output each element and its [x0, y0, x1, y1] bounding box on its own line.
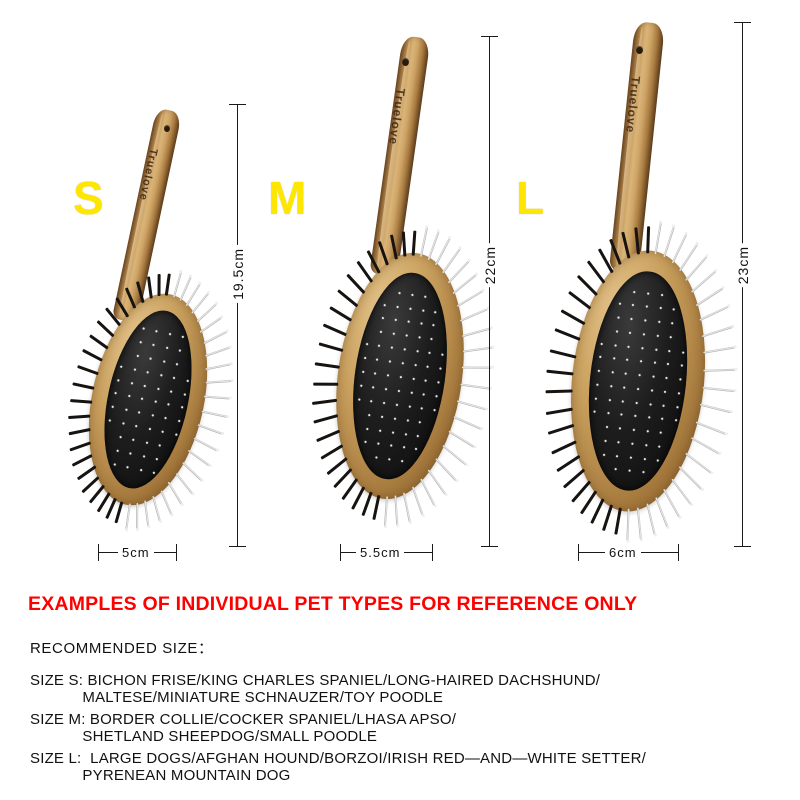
brush-medium: Truelove [318, 30, 498, 550]
pin-dot [628, 345, 630, 347]
pin-dot [113, 463, 115, 465]
boar-bristle [106, 498, 117, 519]
boar-bristle [314, 415, 339, 424]
pin-dot [167, 404, 169, 406]
steel-pin [125, 503, 131, 529]
steel-pin [655, 222, 662, 254]
steel-pin [679, 466, 703, 490]
dimension-cap-bottom-m [481, 546, 498, 547]
pin-dot [659, 307, 661, 309]
pin-dot [384, 304, 386, 306]
pin-dot [419, 421, 421, 423]
pin-dot [629, 332, 631, 334]
steel-pin [420, 479, 435, 507]
steel-pin [160, 490, 172, 515]
boar-bristle [97, 320, 115, 337]
boar-bristle [323, 324, 347, 336]
pin-dot [648, 417, 650, 419]
pin-dot [638, 374, 640, 376]
pin-dot [609, 399, 611, 401]
steel-pin [457, 400, 486, 410]
pin-dot [604, 440, 606, 442]
boar-bristle [313, 399, 338, 405]
pin-dot [642, 471, 644, 473]
pin-dot [603, 453, 605, 455]
pin-dot [597, 384, 599, 386]
boar-bristle [72, 455, 93, 467]
dimension-label-width-s: 5cm [118, 545, 154, 560]
pin-dot [424, 295, 426, 297]
pin-dot [656, 335, 658, 337]
boar-bristle [337, 289, 358, 307]
boar-bristle [551, 440, 576, 454]
pin-dot [375, 457, 377, 459]
steel-pin [696, 421, 726, 435]
steel-pin [663, 489, 680, 518]
pin-dot [140, 469, 142, 471]
pin-dot [680, 365, 682, 367]
steel-pin [460, 383, 490, 389]
pin-dot [135, 425, 137, 427]
recommended-size-m-line1: SIZE M: BORDER COLLIE/COCKER SPANIEL/LHA… [30, 711, 456, 728]
pin-dot [404, 348, 406, 350]
pin-dot [388, 458, 390, 460]
pin-dot [653, 362, 655, 364]
steel-pin [188, 450, 210, 467]
pin-dot [160, 374, 162, 376]
pin-dot [643, 333, 645, 335]
steel-pin [453, 416, 481, 430]
brush-large: Truelove [550, 18, 740, 558]
boar-bristle [68, 429, 90, 436]
steel-pin [384, 497, 388, 527]
boar-bristle [547, 370, 574, 375]
steel-pin [204, 396, 230, 400]
boar-bristle [362, 492, 373, 516]
steel-pin [203, 331, 227, 345]
steel-pin [685, 452, 712, 473]
dimension-cap-left-s [98, 544, 99, 561]
dimension-cap-top-m [481, 36, 498, 37]
pin-dot [407, 419, 409, 421]
boar-bristle [77, 366, 99, 376]
pin-dot [169, 333, 171, 335]
pin-dot [661, 293, 663, 295]
steel-pin [182, 462, 202, 481]
pin-dot [438, 381, 440, 383]
pin-dot [399, 292, 401, 294]
pin-dot [429, 352, 431, 354]
recommended-size-s-line1: SIZE S: BICHON FRISE/KING CHARLES SPANIE… [30, 672, 600, 689]
pin-dot [427, 366, 429, 368]
pin-dot [414, 364, 416, 366]
pin-dot [151, 414, 153, 416]
steel-pin [201, 410, 227, 417]
pin-dot [667, 363, 669, 365]
steel-pin [703, 347, 735, 354]
dimension-cap-right-m [432, 544, 433, 561]
steel-pin [671, 234, 687, 264]
pin-dot [647, 292, 649, 294]
steel-pin [144, 500, 149, 526]
pin-dot [360, 384, 362, 386]
steel-pin [403, 492, 411, 522]
boar-bristle [346, 274, 365, 294]
pin-dot [646, 430, 648, 432]
boar-bristle [646, 226, 649, 253]
pin-dot [401, 460, 403, 462]
recommended-size-l-line2: PYRENEAN MOUNTAIN DOG [30, 767, 291, 784]
size-letter-m: M [268, 175, 306, 221]
pin-dot [157, 387, 159, 389]
pin-dot [122, 422, 124, 424]
brush-medium-graphic: Truelove [318, 30, 498, 550]
pin-dot [598, 370, 600, 372]
boar-bristle [563, 469, 585, 489]
pin-dot [433, 325, 435, 327]
pin-dot [649, 403, 651, 405]
pin-dot [131, 382, 133, 384]
brush-small-graphic: Truelove [78, 100, 238, 550]
pin-dot [389, 360, 391, 362]
brush-medium-pad [341, 267, 458, 486]
pin-dot [395, 319, 397, 321]
dimension-label-width-m: 5.5cm [356, 545, 404, 560]
pin-dot [127, 466, 129, 468]
pin-dot [417, 435, 419, 437]
pin-dot [420, 323, 422, 325]
pin-dot [619, 427, 621, 429]
pin-dot [397, 305, 399, 307]
pin-dot [625, 373, 627, 375]
pin-dot [409, 307, 411, 309]
steel-pin [198, 424, 223, 435]
steel-pin [691, 437, 720, 454]
boar-bristle [577, 275, 598, 296]
pin-dot [664, 391, 666, 393]
pin-dot [594, 411, 596, 413]
pin-dot [644, 319, 646, 321]
steel-pin [175, 473, 193, 494]
dimension-label-width-l: 6cm [605, 545, 641, 560]
pin-dot [396, 403, 398, 405]
steel-pin [663, 227, 675, 258]
steel-pin [457, 290, 484, 307]
pin-dot [393, 333, 395, 335]
steel-pin [699, 306, 729, 321]
pin-dot [166, 347, 168, 349]
pin-dot [423, 393, 425, 395]
pin-dot [179, 349, 181, 351]
pin-dot [369, 414, 371, 416]
pin-dot [626, 359, 628, 361]
pin-dot [362, 371, 364, 373]
boar-bristle [556, 455, 580, 472]
boar-bristle [165, 274, 171, 296]
pin-dot [381, 415, 383, 417]
steel-pin [448, 431, 475, 448]
pin-dot [645, 444, 647, 446]
pin-dot [145, 442, 147, 444]
steel-pin [206, 363, 232, 370]
pin-dot [153, 344, 155, 346]
boar-bristle [342, 478, 359, 500]
steel-pin [704, 368, 736, 371]
pin-dot [410, 391, 412, 393]
pin-dot [156, 458, 158, 460]
pin-dot [139, 341, 141, 343]
dimension-cap-right-l [678, 544, 679, 561]
pin-dot [636, 401, 638, 403]
brush-medium-head [321, 245, 478, 508]
pin-dot [392, 431, 394, 433]
steel-pin [206, 380, 232, 384]
pin-dot [621, 414, 623, 416]
steel-pin [691, 271, 716, 293]
pin-dot [637, 388, 639, 390]
boar-bristle [89, 334, 108, 349]
pin-dot [416, 350, 418, 352]
pin-dot [606, 426, 608, 428]
boar-bristle [77, 466, 96, 481]
boar-bristle [318, 343, 343, 352]
boar-bristle [554, 329, 580, 341]
dimension-cap-top-s [229, 104, 246, 105]
pin-dot [682, 351, 684, 353]
steel-pin [671, 478, 692, 505]
pin-dot [383, 402, 385, 404]
pin-dot [655, 348, 657, 350]
pin-dot [607, 412, 609, 414]
product-size-chart-image: Truelove Truelove Truelove [0, 0, 800, 800]
boar-bristle [82, 349, 103, 361]
pin-dot [670, 336, 672, 338]
reference-headline: EXAMPLES OF INDIVIDUAL PET TYPES FOR REF… [28, 593, 778, 616]
pin-dot [154, 401, 156, 403]
steel-pin [412, 486, 424, 515]
dimension-cap-bottom-l [734, 546, 751, 547]
steel-pin [462, 367, 492, 369]
pin-dot [616, 455, 618, 457]
steel-pin [205, 346, 230, 356]
pin-dot [412, 378, 414, 380]
brush-small: Truelove [78, 100, 238, 550]
pin-dot [134, 368, 136, 370]
pin-dot [613, 358, 615, 360]
steel-pin [700, 404, 732, 414]
pin-dot [400, 376, 402, 378]
pin-dot [137, 355, 139, 357]
brush-large-pad [579, 267, 697, 496]
pin-dot [366, 343, 368, 345]
boar-bristle [602, 504, 613, 530]
pin-dot [658, 445, 660, 447]
boar-bristle [147, 277, 152, 299]
boar-bristle [568, 292, 591, 310]
pin-dot [660, 432, 662, 434]
pin-dot [144, 384, 146, 386]
boar-bristle [73, 382, 95, 389]
dimension-cap-left-l [578, 544, 579, 561]
steel-pin [655, 497, 669, 528]
pin-dot [665, 377, 667, 379]
pin-dot [364, 357, 366, 359]
pin-dot [652, 376, 654, 378]
pin-dot [634, 291, 636, 293]
pin-dot [411, 293, 413, 295]
pin-dot [390, 445, 392, 447]
boar-bristle [157, 274, 160, 296]
pin-dot [371, 400, 373, 402]
pin-dot [618, 441, 620, 443]
pin-dot [118, 379, 120, 381]
steel-pin [136, 503, 138, 529]
steel-pin [196, 303, 216, 322]
pin-dot [425, 380, 427, 382]
steel-pin [462, 327, 491, 337]
pin-dot [115, 392, 117, 394]
pin-dot [129, 452, 131, 454]
pin-dot [615, 468, 617, 470]
pin-dot [676, 406, 678, 408]
boar-bristle [330, 306, 353, 321]
steel-pin [462, 347, 492, 353]
boar-bristle [351, 486, 365, 509]
pin-dot [116, 450, 118, 452]
pin-dot [418, 336, 420, 338]
pin-dot [182, 336, 184, 338]
pin-dot [436, 395, 438, 397]
steel-pin [428, 469, 447, 495]
pin-dot [402, 362, 404, 364]
pin-dot [601, 343, 603, 345]
dimension-line-height-s [237, 104, 238, 546]
pin-dot [367, 427, 369, 429]
pin-dot [440, 368, 442, 370]
pin-dot [138, 412, 140, 414]
pin-dot [617, 317, 619, 319]
pin-dot [365, 441, 367, 443]
boar-bristle [412, 230, 416, 255]
pin-dot [671, 322, 673, 324]
pin-dot [407, 321, 409, 323]
pin-dot [431, 338, 433, 340]
pin-dot [673, 309, 675, 311]
boar-bristle [315, 363, 340, 369]
pin-dot [132, 439, 134, 441]
pin-dot [408, 405, 410, 407]
pin-dot [394, 417, 396, 419]
pin-dot [162, 431, 164, 433]
pin-dot [657, 459, 659, 461]
pin-dot [441, 354, 443, 356]
pin-dot [632, 304, 634, 306]
steel-pin [702, 387, 734, 392]
pin-dot [153, 472, 155, 474]
steel-pin [168, 482, 183, 505]
pin-dot [614, 344, 616, 346]
pin-dot [358, 398, 360, 400]
steel-pin [702, 326, 733, 338]
recommended-size-title: RECOMMENDED SIZE： [30, 637, 214, 658]
dimension-label-height-m: 22cm [482, 243, 498, 287]
pin-dot [405, 433, 407, 435]
pin-dot [380, 331, 382, 333]
pin-dot [622, 400, 624, 402]
steel-pin [200, 316, 222, 333]
pin-dot [679, 378, 681, 380]
steel-pin [685, 256, 708, 281]
boar-bristle [545, 390, 572, 393]
pin-dot [176, 363, 178, 365]
dimension-cap-left-m [340, 544, 341, 561]
boar-bristle [550, 349, 577, 358]
pin-dot [387, 374, 389, 376]
boar-bristle [560, 310, 585, 325]
pin-dot [599, 356, 601, 358]
pin-dot [611, 371, 613, 373]
pin-dot [382, 317, 384, 319]
brush-medium-hang-hole [402, 58, 409, 66]
pin-dot [624, 386, 626, 388]
boar-bristle [591, 498, 605, 523]
boar-bristle [587, 261, 605, 284]
pin-dot [164, 417, 166, 419]
steel-pin [696, 287, 724, 306]
steel-pin [173, 272, 182, 298]
boar-bristle [321, 444, 344, 459]
boar-bristle [68, 415, 90, 419]
pin-dot [415, 448, 417, 450]
pin-dot [643, 458, 645, 460]
pin-dot [374, 372, 376, 374]
steel-pin [395, 495, 399, 525]
steel-pin [627, 509, 630, 541]
brush-large-head [559, 244, 718, 518]
pin-dot [180, 406, 182, 408]
pin-dot [142, 327, 144, 329]
steel-pin [435, 458, 457, 481]
steel-pin [420, 227, 428, 257]
pin-dot [675, 419, 677, 421]
pin-dot [373, 386, 375, 388]
pin-dot [112, 406, 114, 408]
boar-bristle [313, 383, 338, 386]
pin-dot [619, 303, 621, 305]
pin-dot [403, 447, 405, 449]
boar-bristle [70, 442, 92, 452]
pin-dot [119, 436, 121, 438]
steel-pin [442, 445, 466, 466]
pin-dot [379, 429, 381, 431]
dimension-cap-bottom-s [229, 546, 246, 547]
dimension-cap-top-l [734, 22, 751, 23]
pin-dot [173, 376, 175, 378]
pin-dot [616, 330, 618, 332]
boar-bristle [614, 508, 621, 535]
boar-bristle [546, 408, 573, 415]
pin-dot [128, 395, 130, 397]
pin-dot [178, 420, 180, 422]
pin-dot [163, 360, 165, 362]
pin-dot [183, 393, 185, 395]
dimension-cap-right-s [176, 544, 177, 561]
pin-dot [661, 418, 663, 420]
boar-bristle [548, 424, 575, 434]
pin-dot [435, 311, 437, 313]
pin-dot [175, 434, 177, 436]
steel-pin [646, 503, 655, 535]
